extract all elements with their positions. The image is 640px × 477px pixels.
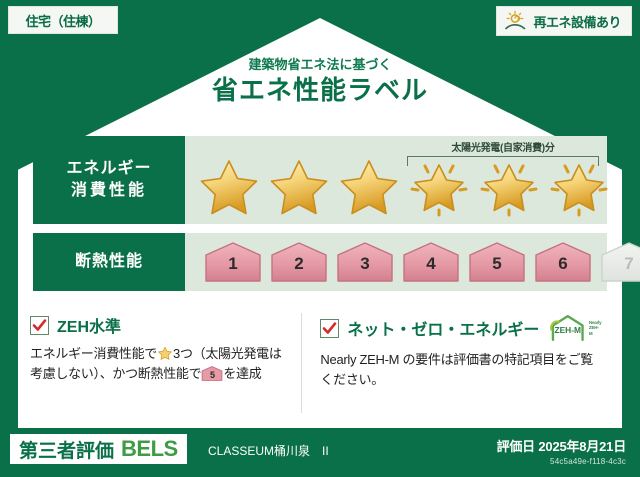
energy-performance-row: エネルギー 消費性能 太陽光発電(自家消費)分	[33, 136, 607, 224]
insulation-grade-badge: 5	[467, 241, 527, 283]
label-heading: 建築物省エネ法に基づく 省エネ性能ラベル	[0, 58, 640, 107]
energy-performance-value: 太陽光発電(自家消費)分	[185, 136, 607, 224]
net-zero-energy-panel: ネット・ゼロ・エネルギー ZEH-M Nearly ZEH-M Nearly Z…	[301, 313, 614, 413]
evaluation-id: 54c5a49e-f118-4c3c	[497, 457, 626, 466]
star-item-solar	[545, 152, 613, 220]
building-name: CLASSEUM桶川泉 II	[208, 442, 329, 459]
insulation-grade-number: 4	[401, 254, 461, 274]
insulation-grade-badge: 1	[203, 241, 263, 283]
star-item	[265, 152, 333, 220]
label-footer: 第三者評価 BELS CLASSEUM桶川泉 II 評価日 2025年8月21日…	[0, 428, 640, 477]
inline-star-icon	[157, 345, 173, 361]
star-item	[195, 152, 263, 220]
net-zero-energy-header: ネット・ゼロ・エネルギー ZEH-M Nearly ZEH-M	[320, 313, 602, 343]
insulation-grade-badge: 4	[401, 241, 461, 283]
bels-jp-label: 第三者評価	[19, 436, 114, 463]
svg-text:ZEH-M: ZEH-M	[555, 325, 582, 335]
insulation-performance-label-box: 断熱性能	[33, 233, 185, 291]
inline-grade-badge-icon: 5	[201, 365, 223, 382]
zeh-text-part1: エネルギー消費性能で	[30, 346, 157, 361]
net-zero-energy-description: Nearly ZEH-M の要件は評価書の特記項目をご覧ください。	[320, 350, 602, 390]
zeh-standard-header: ZEH水準	[30, 313, 289, 337]
insulation-performance-row: 断熱性能 1 2	[33, 233, 607, 291]
zeh-section: ZEH水準 エネルギー消費性能で3つ（太陽光発電は考慮しない）、かつ断熱性能で5…	[26, 313, 614, 413]
net-zero-energy-title: ネット・ゼロ・エネルギー	[347, 316, 539, 340]
star-item-solar	[475, 152, 543, 220]
insulation-grade-badge: 3	[335, 241, 395, 283]
insulation-grade-number: 5	[467, 254, 527, 274]
zeh-standard-description: エネルギー消費性能で3つ（太陽光発電は考慮しない）、かつ断熱性能で5を達成	[30, 344, 289, 384]
energy-performance-label: 住宅（住棟） 再エネ設備あり 建築物省エネ法に基づく 省エネ性能ラベル エネルギ…	[0, 0, 640, 477]
insulation-grade-number: 7	[599, 254, 640, 274]
label-subtitle: 建築物省エネ法に基づく	[0, 58, 640, 72]
checkbox-checked-icon	[30, 316, 49, 335]
zeh-m-logo-sublabel: Nearly ZEH-M	[589, 320, 602, 336]
label-title: 省エネ性能ラベル	[0, 74, 640, 107]
star-rating	[185, 152, 607, 220]
checkbox-checked-icon	[320, 319, 339, 338]
zeh-m-house-icon: ZEH-M	[549, 313, 586, 343]
insulation-performance-value: 1 2 3 4	[185, 233, 607, 291]
energy-performance-label-line1: エネルギー	[66, 158, 151, 180]
zeh-standard-panel: ZEH水準 エネルギー消費性能で3つ（太陽光発電は考慮しない）、かつ断熱性能で5…	[26, 313, 301, 413]
zeh-m-sub-line2: ZEH-M	[589, 325, 599, 335]
star-item	[335, 152, 403, 220]
dwelling-type-label: 住宅（住棟）	[25, 11, 100, 30]
renewable-energy-label: 再エネ設備あり	[533, 12, 621, 31]
dwelling-type-tag: 住宅（住棟）	[8, 6, 118, 34]
energy-performance-label-box: エネルギー 消費性能	[33, 136, 185, 224]
renewable-energy-badge: 再エネ設備あり	[496, 6, 632, 36]
energy-performance-label-line2: 消費性能	[71, 180, 147, 202]
insulation-grade-number: 3	[335, 254, 395, 274]
insulation-grade-badge: 2	[269, 241, 329, 283]
bels-logo-text: BELS	[121, 436, 178, 462]
zeh-text-part3: を達成	[223, 366, 261, 381]
evaluation-date: 評価日 2025年8月21日	[497, 436, 626, 455]
evaluation-info: 評価日 2025年8月21日 54c5a49e-f118-4c3c	[497, 436, 626, 466]
bels-certification-box: 第三者評価 BELS	[10, 434, 187, 464]
insulation-grade-badge-inactive: 7	[599, 241, 640, 283]
zeh-m-logo: ZEH-M Nearly ZEH-M	[549, 313, 602, 343]
inline-grade-number: 5	[201, 369, 223, 383]
sun-solar-icon	[504, 10, 528, 32]
insulation-grade-number: 6	[533, 254, 593, 274]
insulation-grade-scale: 1 2 3 4	[185, 233, 607, 291]
insulation-grade-badge: 6	[533, 241, 593, 283]
insulation-grade-number: 1	[203, 254, 263, 274]
insulation-grade-number: 2	[269, 254, 329, 274]
star-item-solar	[405, 152, 473, 220]
insulation-performance-label: 断熱性能	[75, 251, 143, 273]
zeh-text-stars: 3つ（太陽光発電	[173, 346, 269, 361]
metrics-section: エネルギー 消費性能 太陽光発電(自家消費)分	[33, 136, 607, 300]
zeh-standard-title: ZEH水準	[57, 313, 121, 337]
